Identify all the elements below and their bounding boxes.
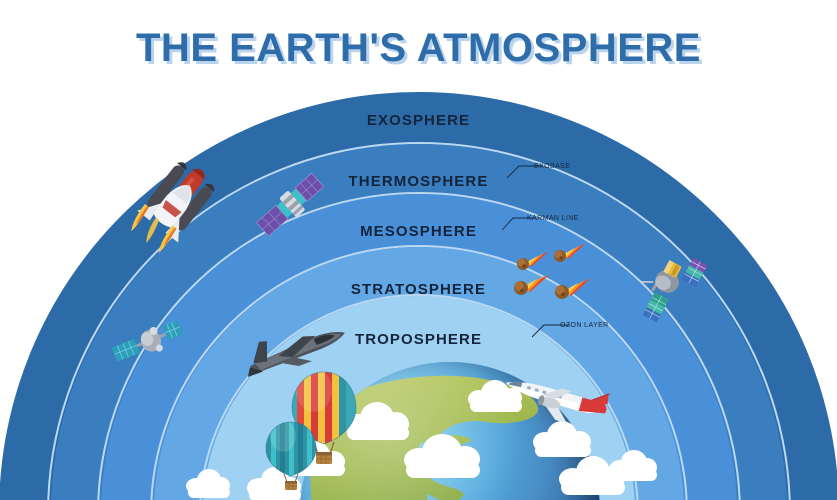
airplane-icon: [496, 376, 606, 428]
meteor-icon: [512, 274, 550, 296]
meteor-icon: [552, 243, 586, 263]
layer-label-stratosphere: STRATOSPHERE: [0, 281, 837, 298]
annotation-exobase: EXOBASE: [534, 163, 570, 170]
annotation-ozon-layer: OZON LAYER: [560, 322, 609, 329]
meteor-icon: [553, 278, 591, 300]
satellite-icon: [628, 244, 706, 328]
space-shuttle-icon: [133, 165, 219, 261]
layer-label-exosphere: EXOSPHERE: [0, 112, 837, 129]
annotation-karman-line: KARMAN LINE: [527, 215, 579, 222]
fighter-jet-icon: [243, 322, 351, 374]
satellite-icon: [112, 312, 184, 376]
layer-label-thermosphere: THERMOSPHERE: [0, 173, 837, 190]
layer-label-mesosphere: MESOSPHERE: [0, 223, 837, 240]
meteor-icon: [515, 251, 549, 271]
infographic-canvas: THE EARTH'S ATMOSPHERE EXOSPHERE THERMOS…: [0, 0, 837, 500]
hot-air-balloon-icon: [264, 420, 318, 492]
satellite-icon: [252, 168, 328, 244]
